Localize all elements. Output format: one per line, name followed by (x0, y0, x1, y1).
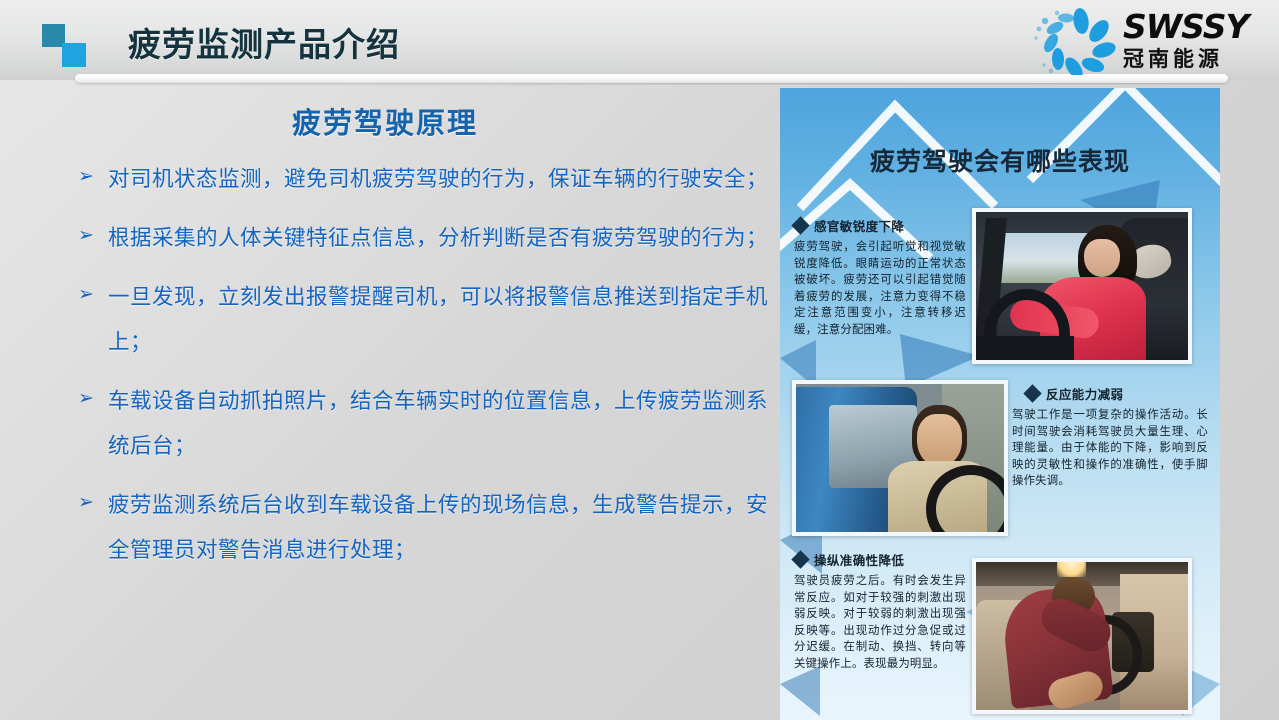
list-item-text: 根据采集的人体关键特征点信息，分析判断是否有疲劳驾驶的行为； (108, 216, 768, 261)
diamond-bullet-icon (791, 550, 809, 568)
water-droplet-petals-icon (1011, 7, 1119, 75)
chevron-right-icon: ➢ (78, 275, 108, 313)
infographic-section-3: 操纵准确性降低 驾驶员疲劳之后。有时会发生异常反应。如对于较强的刺激出现弱反映。… (794, 550, 966, 672)
list-item: ➢ 疲劳监测系统后台收到车载设备上传的现场信息，生成警告提示，安全管理员对警告消… (78, 483, 768, 573)
list-item-text: 对司机状态监测，避免司机疲劳驾驶的行为，保证车辆的行驶安全； (108, 157, 768, 202)
list-item: ➢ 对司机状态监测，避免司机疲劳驾驶的行为，保证车辆的行驶安全； (78, 157, 768, 202)
driver-asleep-on-wheel-photo (972, 558, 1192, 714)
brand-name-en: SWSSY (1123, 10, 1248, 44)
chevron-right-icon: ➢ (78, 379, 108, 417)
bullet-list: ➢ 对司机状态监测，避免司机疲劳驾驶的行为，保证车辆的行驶安全； ➢ 根据采集的… (78, 157, 768, 587)
two-squares-icon (42, 24, 98, 68)
diamond-bullet-icon (791, 216, 809, 234)
section-title: 感官敏锐度下降 (794, 216, 966, 235)
section-title-text: 操纵准确性降低 (814, 550, 904, 569)
brand-text: SWSSY 冠南能源 (1123, 10, 1248, 72)
chevron-right-icon: ➢ (78, 216, 108, 254)
slide: 疲劳监测产品介绍 (0, 0, 1279, 720)
section-title: 操纵准确性降低 (794, 550, 966, 569)
tired-truck-driver-photo (792, 380, 1008, 536)
infographic-heading: 疲劳驾驶会有哪些表现 (780, 142, 1220, 178)
brand-name-cn: 冠南能源 (1123, 46, 1248, 72)
brand-logo: SWSSY 冠南能源 (1011, 4, 1261, 78)
square-light-icon (62, 43, 86, 67)
section-body: 疲劳驾驶，会引起听觉和视觉敏锐度降低。眼睛运动的正常状态被破坏。疲劳还可以引起错… (794, 238, 966, 338)
section-title-text: 反应能力减弱 (1046, 384, 1123, 403)
chevron-right-icon: ➢ (78, 483, 108, 521)
tired-woman-driving-photo (972, 208, 1192, 364)
section-body: 驾驶工作是一项复杂的操作活动。长时间驾驶会消耗驾驶员大量生理、心理能量。由于体能… (1012, 406, 1208, 489)
list-item-text: 一旦发现，立刻发出报警提醒司机，可以将报警信息推送到指定手机上； (108, 275, 768, 365)
section-title: 反应能力减弱 (1012, 384, 1208, 403)
list-item: ➢ 车载设备自动抓拍照片，结合车辆实时的位置信息，上传疲劳监测系统后台； (78, 379, 768, 469)
infographic-panel: 疲劳驾驶会有哪些表现 感官敏锐度下降 疲劳驾驶，会引起听觉和视觉敏锐度降低。眼睛… (780, 88, 1220, 720)
content-title: 疲劳驾驶原理 (0, 100, 770, 142)
chevron-right-icon: ➢ (78, 157, 108, 195)
section-body: 驾驶员疲劳之后。有时会发生异常反应。如对于较强的刺激出现弱反映。对于较弱的刺激出… (794, 572, 966, 672)
page-title: 疲劳监测产品介绍 (128, 18, 400, 66)
list-item-text: 车载设备自动抓拍照片，结合车辆实时的位置信息，上传疲劳监测系统后台； (108, 379, 768, 469)
infographic-section-2: 反应能力减弱 驾驶工作是一项复杂的操作活动。长时间驾驶会消耗驾驶员大量生理、心理… (1012, 384, 1208, 489)
section-title-text: 感官敏锐度下降 (814, 216, 904, 235)
diamond-bullet-icon (1023, 384, 1041, 402)
list-item: ➢ 根据采集的人体关键特征点信息，分析判断是否有疲劳驾驶的行为； (78, 216, 768, 261)
slide-header: 疲劳监测产品介绍 (0, 0, 1279, 80)
list-item: ➢ 一旦发现，立刻发出报警提醒司机，可以将报警信息推送到指定手机上； (78, 275, 768, 365)
infographic-section-1: 感官敏锐度下降 疲劳驾驶，会引起听觉和视觉敏锐度降低。眼睛运动的正常状态被破坏。… (794, 216, 966, 338)
list-item-text: 疲劳监测系统后台收到车载设备上传的现场信息，生成警告提示，安全管理员对警告消息进… (108, 483, 768, 573)
